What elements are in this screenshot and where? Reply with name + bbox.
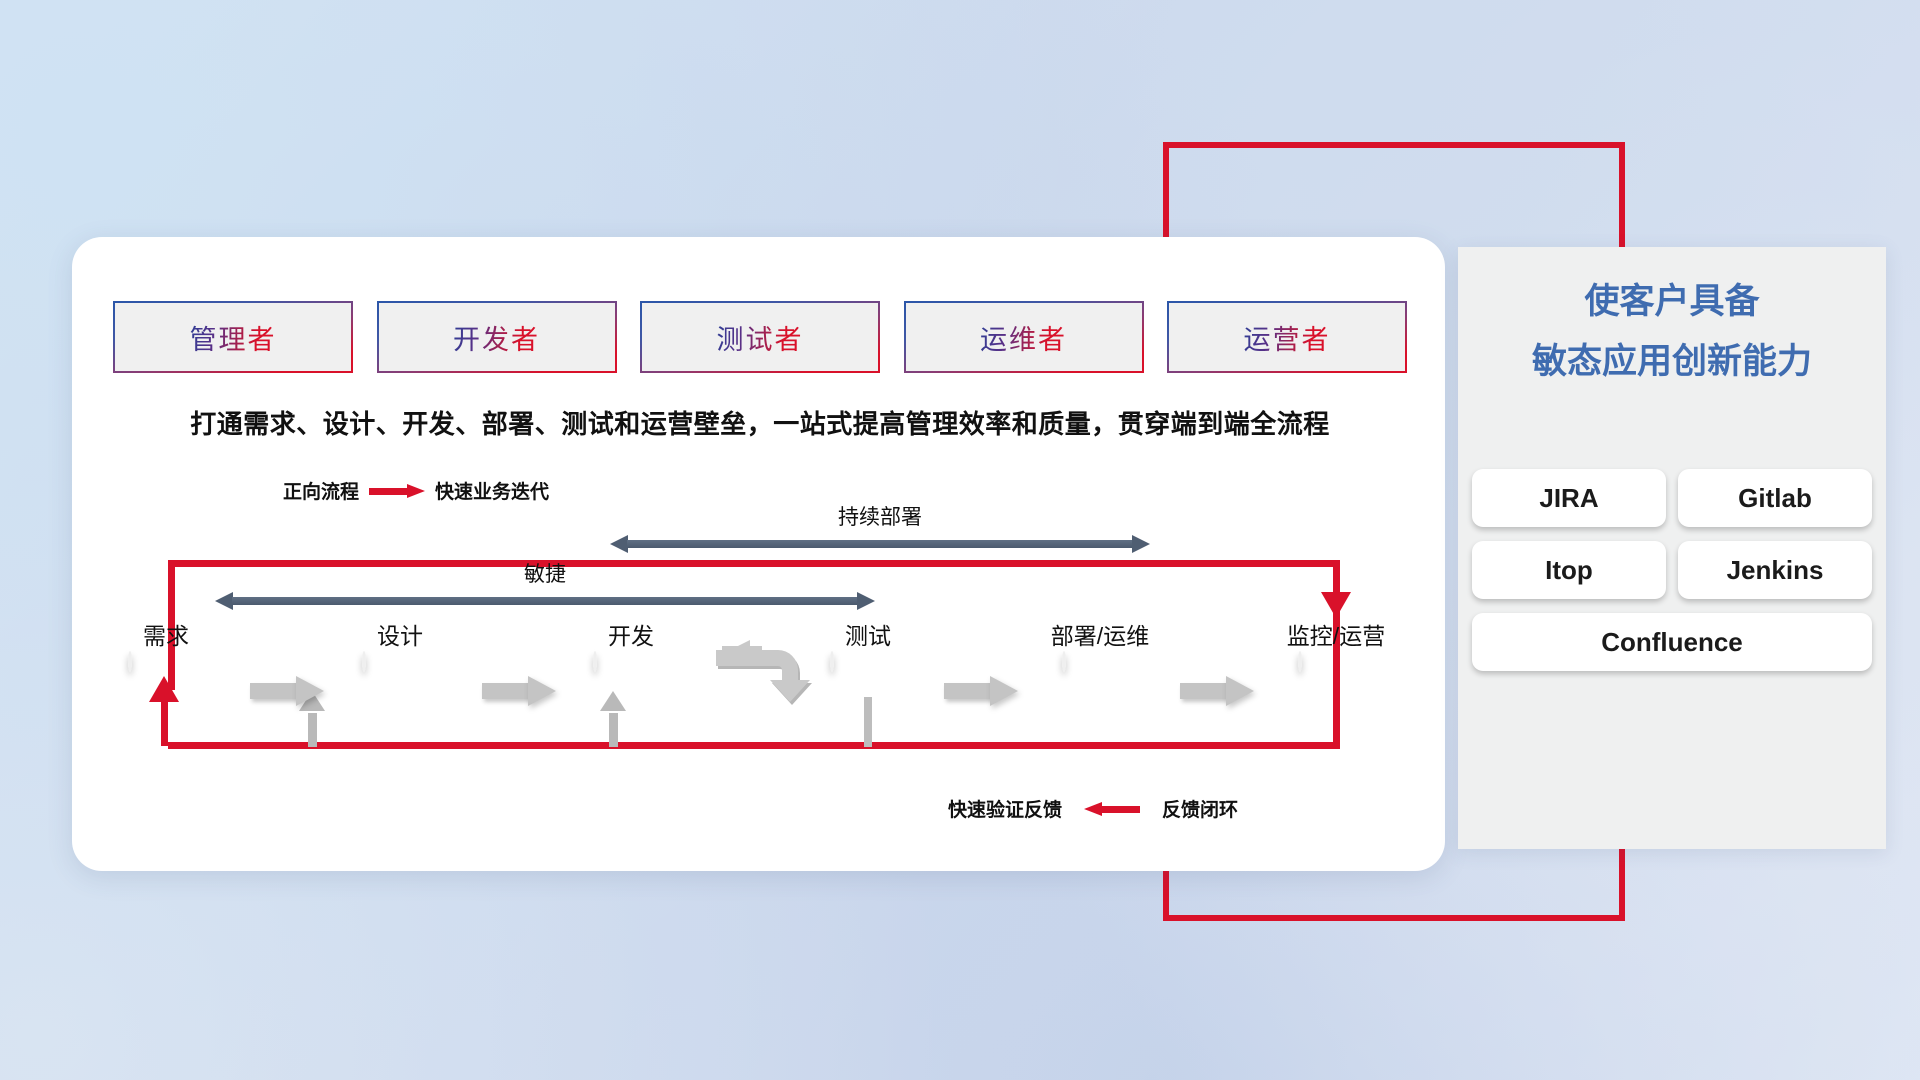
- arrow-head-right-icon: [990, 676, 1018, 706]
- pipeline: 需求 设计 开发: [0, 0, 1520, 1080]
- node-label: 设计: [377, 617, 423, 651]
- node-label: 开发: [608, 617, 654, 651]
- arrow-head-right-icon: [528, 676, 556, 706]
- riser-arrow-develop: [600, 691, 626, 747]
- node-bubble: [593, 651, 597, 672]
- tool-pill-grid: JIRA Gitlab Itop Jenkins Confluence: [1472, 469, 1872, 671]
- arrow-shaft: [609, 713, 618, 747]
- pipeline-node-deploy-ops[interactable]: 部署/运维: [1062, 653, 1138, 729]
- panel-title-line-1: 使客户具备: [1458, 275, 1886, 329]
- arrow-head-right-icon: [296, 676, 324, 706]
- node-label: 需求: [143, 617, 189, 651]
- pipeline-node-monitor-operations[interactable]: 监控/运营: [1298, 653, 1374, 729]
- node-bubble: [1062, 651, 1066, 672]
- arrow-shaft: [944, 683, 992, 699]
- connector-arrow-3: [944, 676, 1018, 706]
- panel-title-line-2: 敏态应用创新能力: [1458, 335, 1886, 389]
- iteration-loop-icon: [712, 640, 822, 715]
- arrow-head-up-icon: [600, 691, 626, 711]
- node-bubble: [128, 651, 132, 672]
- pipeline-node-design[interactable]: 设计: [362, 653, 438, 729]
- node-label: 测试: [845, 617, 891, 651]
- panel-title: 使客户具备 敏态应用创新能力: [1458, 275, 1886, 390]
- tool-pill-jenkins[interactable]: Jenkins: [1678, 541, 1872, 599]
- riser-stem-test: [855, 697, 881, 747]
- arrow-shaft: [308, 713, 317, 747]
- arrow-shaft: [1180, 683, 1228, 699]
- tool-pill-gitlab[interactable]: Gitlab: [1678, 469, 1872, 527]
- connector-arrow-2: [482, 676, 556, 706]
- node-bubble: [362, 651, 366, 672]
- connector-arrow-4: [1180, 676, 1254, 706]
- node-bubble: [830, 651, 834, 672]
- node-label: 监控/运营: [1287, 617, 1385, 651]
- connector-arrow-1: [250, 676, 324, 706]
- tool-pill-confluence[interactable]: Confluence: [1472, 613, 1872, 671]
- node-bubble: [1298, 651, 1302, 672]
- arrow-shaft: [482, 683, 530, 699]
- slide-stage: 管理者 开发者 测试者 运维者 运营者 打通需求、设计、开发、部署、测试和运营壁…: [0, 0, 1920, 1080]
- arrow-shaft: [250, 683, 298, 699]
- node-label: 部署/运维: [1051, 617, 1149, 651]
- pipeline-node-requirement[interactable]: 需求: [128, 653, 204, 729]
- arrow-head-right-icon: [1226, 676, 1254, 706]
- tools-panel: 使客户具备 敏态应用创新能力 JIRA Gitlab Itop Jenkins …: [1458, 247, 1886, 849]
- arrow-shaft: [864, 697, 872, 747]
